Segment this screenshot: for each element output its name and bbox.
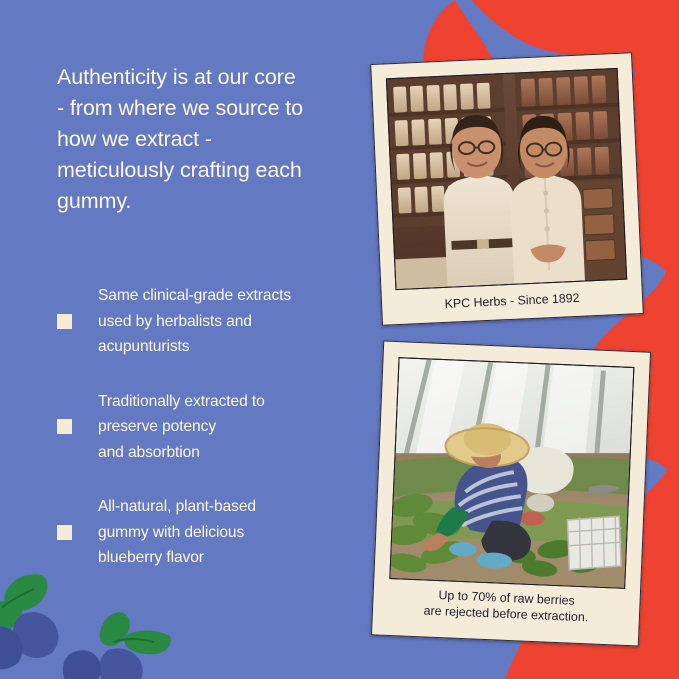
list-item: Same clinical-grade extracts used by her… bbox=[57, 283, 377, 360]
square-bullet-icon bbox=[57, 525, 72, 540]
photo-caption: KPC Herbs - Since 1892 bbox=[382, 287, 642, 315]
vintage-founders-polaroid: KPC Herbs - Since 1892 bbox=[370, 52, 644, 326]
blueberry-cluster-left bbox=[0, 567, 102, 679]
page-title: Authenticity is at our core - from where… bbox=[57, 62, 362, 217]
bullet-text: All-natural, plant-based gummy with deli… bbox=[98, 494, 256, 571]
farm-harvest-polaroid: Up to 70% of raw berries are rejected be… bbox=[371, 341, 651, 647]
list-item: Traditionally extracted to preserve pote… bbox=[57, 389, 377, 466]
apothecary-shop-illustration-icon bbox=[387, 69, 626, 289]
square-bullet-icon bbox=[57, 314, 72, 329]
blueberry-icon bbox=[62, 608, 177, 679]
blueberry-icon bbox=[0, 567, 102, 679]
blueberry-cluster-mid bbox=[62, 608, 177, 679]
promo-panel: Authenticity is at our core - from where… bbox=[0, 0, 679, 679]
feature-bullet-list: Same clinical-grade extracts used by her… bbox=[57, 283, 377, 571]
farm-harvest-photo bbox=[389, 357, 634, 589]
bullet-text: Traditionally extracted to preserve pote… bbox=[98, 389, 265, 466]
vintage-founders-photo bbox=[386, 68, 627, 290]
bullet-text: Same clinical-grade extracts used by her… bbox=[98, 283, 291, 360]
square-bullet-icon bbox=[57, 419, 72, 434]
photo-caption: Up to 70% of raw berries are rejected be… bbox=[373, 584, 640, 627]
greenhouse-harvest-illustration-icon bbox=[390, 358, 633, 588]
list-item: All-natural, plant-based gummy with deli… bbox=[57, 494, 377, 571]
